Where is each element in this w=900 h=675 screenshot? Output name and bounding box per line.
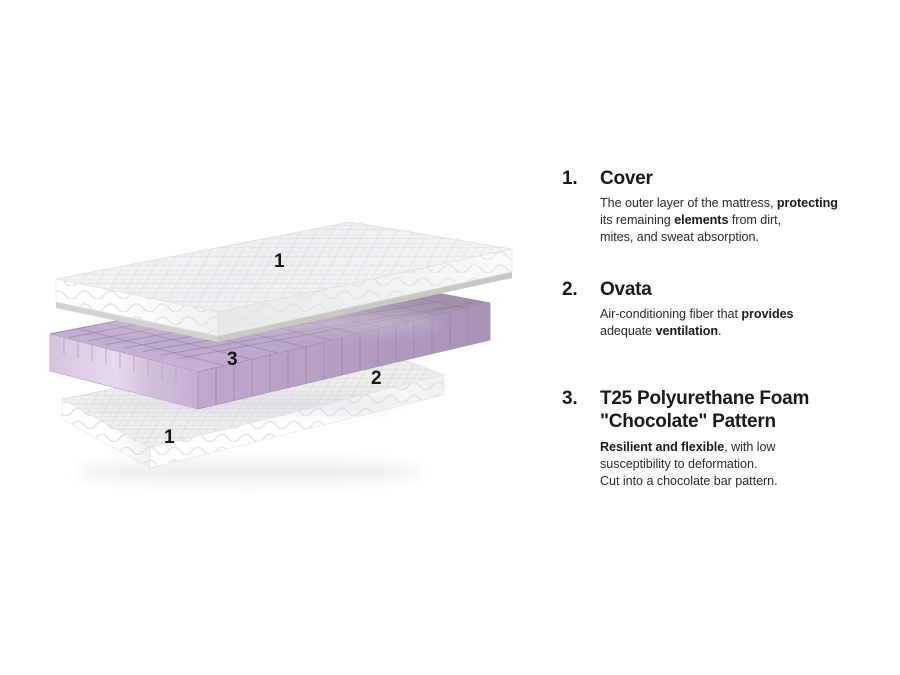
layer-entry-cover: 1. Cover The outer layer of the mattress… [555,168,885,246]
mattress-exploded-diagram: 1 3 2 1 [0,0,540,675]
entry-number: 3. [562,388,577,410]
entry-number: 1. [562,168,577,190]
entry-description: Resilient and flexible, with lowsuscepti… [600,439,885,490]
entry-title: Cover [600,168,885,190]
layer-label-cover-bottom: 1 [164,428,175,447]
entry-description: Air-conditioning fiber that providesadeq… [600,306,885,340]
layer-label-ovata: 2 [371,369,382,388]
entry-title-line-1: T25 Polyurethane Foam [600,388,809,409]
entry-title: T25 Polyurethane Foam "Chocolate" Patter… [600,388,885,432]
layer-label-cover-top: 1 [274,252,285,271]
mattress-layers-infographic: 1 3 2 1 1. Cover The outer layer of the … [0,0,900,675]
entry-title: Ovata [600,279,885,301]
entry-title-line-2: "Chocolate" Pattern [600,411,776,432]
entry-number: 2. [562,279,577,301]
entry-description: The outer layer of the mattress, protect… [600,195,885,246]
layer-label-foam: 3 [227,350,238,369]
layer-entry-ovata: 2. Ovata Air-conditioning fiber that pro… [555,279,885,340]
layer-description-list: 1. Cover The outer layer of the mattress… [555,168,885,490]
layer-entry-foam: 3. T25 Polyurethane Foam "Chocolate" Pat… [555,388,885,489]
